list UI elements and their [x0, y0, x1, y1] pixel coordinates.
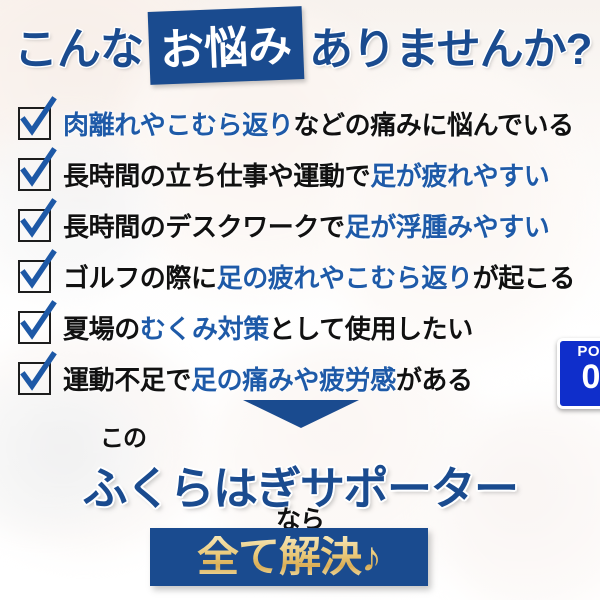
checklist-item-label: ゴルフの際に足の疲れやこむら返りが起こる	[63, 258, 575, 295]
solution-banner: 全て解決♪	[150, 528, 428, 586]
checklist-item-label: 長時間の立ち仕事や運動で足が疲れやすい	[63, 156, 549, 193]
kono-label: この	[100, 418, 146, 453]
point-badge-number: 0	[582, 360, 600, 394]
checklist-segment-highlight: むくみ対策	[140, 314, 269, 344]
benefits-checklist: 肉離れやこむら返りなどの痛みに悩んでいる長時間の立ち仕事や運動で足が疲れやすい長…	[0, 98, 600, 404]
checklist-segment-highlight: 足が疲れやすい	[370, 161, 549, 191]
checklist-segment-plain: 長時間のデスクワークで	[63, 212, 345, 242]
checked-checkbox-icon[interactable]	[18, 158, 51, 191]
checklist-row: 夏場のむくみ対策として使用したい	[0, 302, 600, 353]
checklist-item-label: 肉離れやこむら返りなどの痛みに悩んでいる	[63, 105, 574, 142]
checklist-row: 長時間のデスクワークで足が浮腫みやすい	[0, 200, 600, 251]
checklist-segment-highlight: 足の疲れやこむら返り	[217, 263, 473, 293]
headline-highlight-box: お悩み	[148, 6, 305, 85]
checklist-segment-plain: などの痛みに悩んでいる	[293, 110, 573, 140]
checklist-segment-plain: が起こる	[473, 263, 575, 293]
checklist-row: ゴルフの際に足の疲れやこむら返りが起こる	[0, 251, 600, 302]
checklist-item-label: 夏場のむくみ対策として使用したい	[63, 309, 473, 346]
checked-checkbox-icon[interactable]	[18, 311, 51, 344]
headline-lead: こんな	[14, 13, 143, 77]
checklist-segment-highlight: 足の痛みや疲労感	[191, 365, 396, 395]
checklist-row: 肉離れやこむら返りなどの痛みに悩んでいる	[0, 98, 600, 149]
checklist-row: 運動不足で足の痛みや疲労感がある	[0, 353, 600, 404]
checklist-segment-plain: 夏場の	[63, 314, 140, 344]
checklist-segment-plain: として使用したい	[269, 314, 473, 344]
checklist-segment-plain: がある	[396, 365, 473, 395]
checked-checkbox-icon[interactable]	[18, 209, 51, 242]
checklist-segment-highlight: 肉離れやこむら返り	[63, 110, 293, 140]
point-badge-label: POI	[577, 344, 600, 359]
checklist-item-label: 運動不足で足の痛みや疲労感がある	[63, 360, 473, 397]
solution-text: 全て解決♪	[197, 536, 381, 578]
checklist-segment-plain: 運動不足で	[63, 365, 191, 395]
headline-trail: ありませんか?	[309, 13, 592, 77]
checklist-segment-plain: ゴルフの際に	[63, 263, 217, 293]
checked-checkbox-icon[interactable]	[18, 260, 51, 293]
down-arrow-triangle-icon	[243, 400, 359, 428]
checked-checkbox-icon[interactable]	[18, 107, 51, 140]
checklist-item-label: 長時間のデスクワークで足が浮腫みやすい	[63, 207, 549, 244]
checklist-segment-highlight: 足が浮腫みやすい	[345, 212, 550, 242]
promo-banner: こんな お悩み ありませんか? 肉離れやこむら返りなどの痛みに悩んでいる長時間の…	[0, 0, 600, 600]
checked-checkbox-icon[interactable]	[18, 362, 51, 395]
point-badge: POI 0	[557, 338, 600, 409]
headline: こんな お悩み ありませんか?	[14, 12, 590, 78]
checklist-row: 長時間の立ち仕事や運動で足が疲れやすい	[0, 149, 600, 200]
checklist-segment-plain: 長時間の立ち仕事や運動で	[63, 161, 370, 191]
